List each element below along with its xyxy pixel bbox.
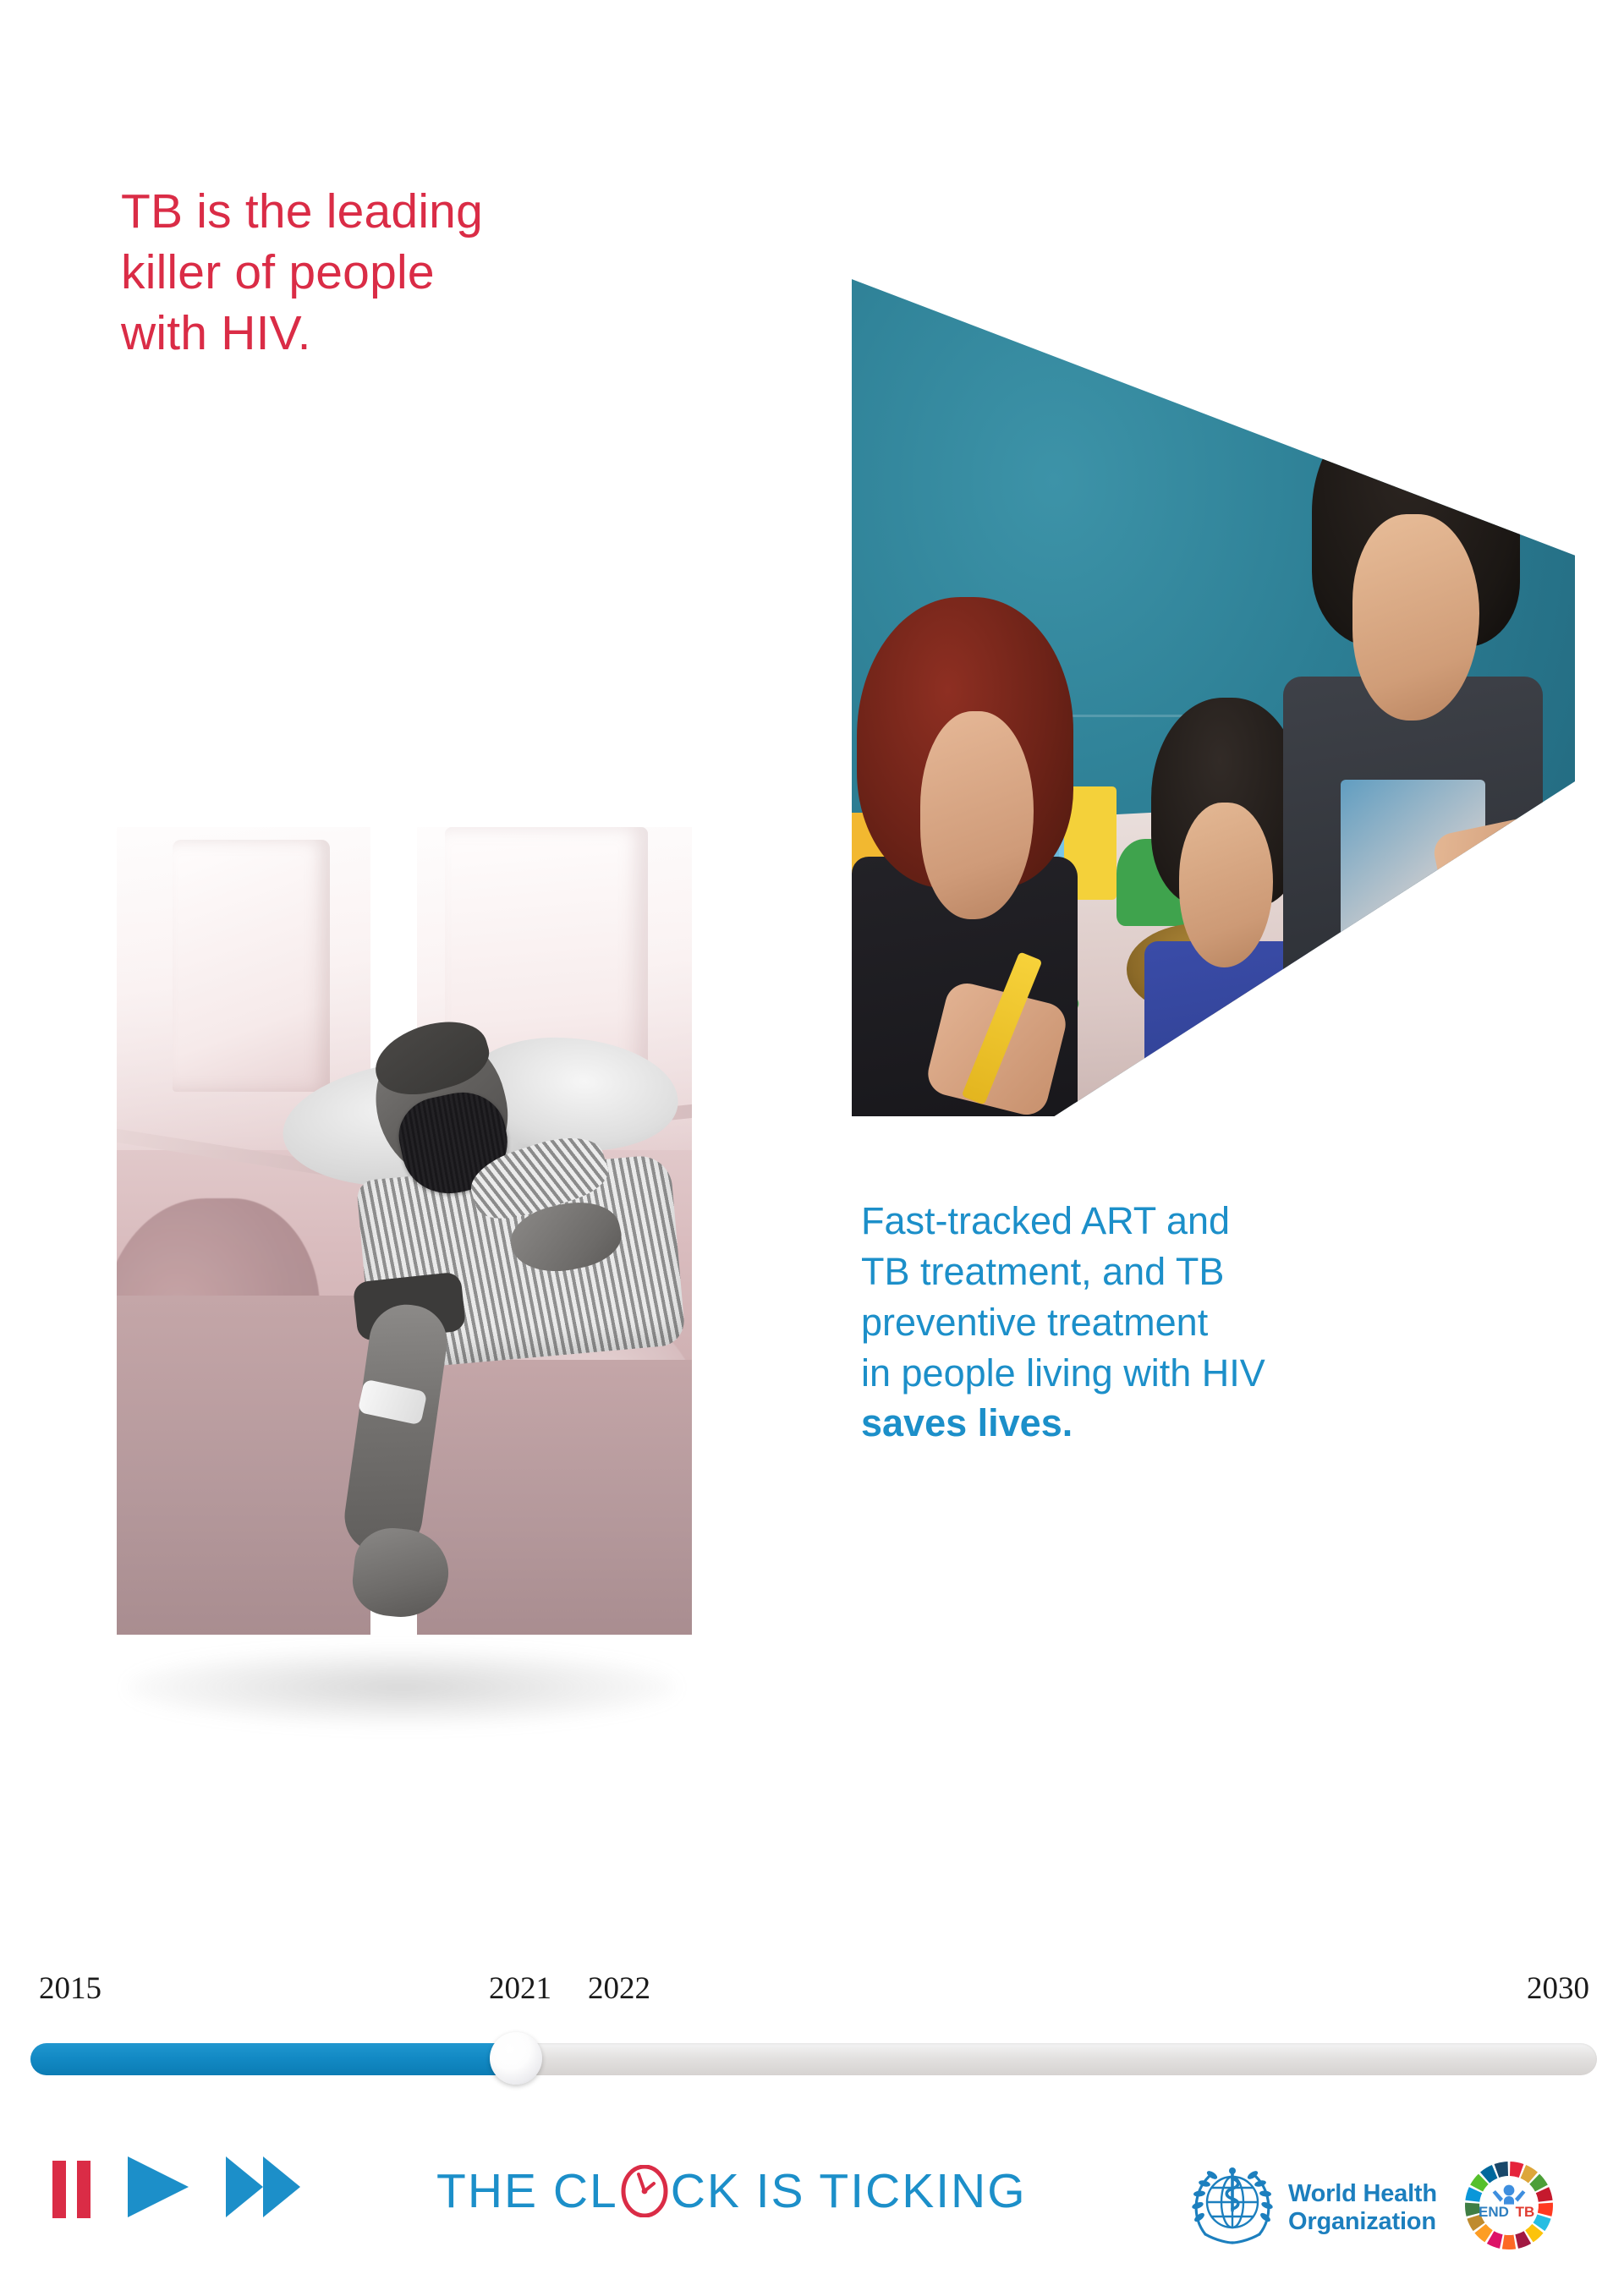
health-worker-uniform — [117, 827, 370, 1150]
timeline-year-labels: 2015 2021 2022 2030 — [0, 1970, 1624, 2014]
body-statement: Fast-tracked ART and TB treatment, and T… — [861, 1196, 1546, 1449]
sdg-wheel-segment — [1495, 2162, 1508, 2178]
left-photo-panel-left — [117, 827, 370, 1635]
older-boy-hand — [1335, 927, 1410, 1044]
who-wordmark: World Health Organization — [1288, 2180, 1437, 2235]
sdg-wheel-segment — [1510, 2162, 1523, 2178]
poster-canvas: TB is the leading killer of people with … — [0, 0, 1624, 2296]
bed-sheet — [117, 1296, 370, 1635]
tagline-part-2: CK IS TICKING — [671, 2163, 1027, 2219]
left-photo-shadow — [127, 1649, 677, 1725]
older-boy-arm — [1430, 814, 1574, 982]
timeline-label-2021: 2021 — [489, 1970, 551, 2007]
health-worker-uniform — [417, 827, 692, 1150]
who-logo: World Health Organization — [1188, 2162, 1437, 2254]
left-photo-tb-patient — [117, 827, 692, 1635]
who-line-2: Organization — [1288, 2208, 1437, 2235]
bottom-bar: THE CL CK IS TICKING — [0, 2131, 1624, 2296]
end-tb-logo: END TB — [1463, 2160, 1555, 2251]
woman-figure — [852, 597, 1098, 1116]
body-line-3: preventive treatment — [861, 1297, 1546, 1348]
body-line-1: Fast-tracked ART and — [861, 1196, 1546, 1247]
slider-progress-fill — [30, 2043, 516, 2075]
right-photo-family — [852, 279, 1575, 1116]
headline-line-1: TB is the leading — [121, 182, 645, 243]
timeline-label-2030: 2030 — [1527, 1970, 1589, 2007]
older-boy-figure — [1271, 397, 1561, 1116]
right-photo-mask — [852, 279, 1575, 1116]
who-emblem-icon — [1188, 2162, 1276, 2254]
body-line-5-emphasis: saves lives. — [861, 1398, 1546, 1449]
timeline-slider[interactable]: 2015 2021 2022 2030 — [0, 1970, 1624, 2114]
pause-icon[interactable] — [52, 2161, 91, 2218]
timeline-label-2015: 2015 — [39, 1970, 101, 2007]
headline-line-2: killer of people — [121, 243, 645, 304]
page-headline: TB is the leading killer of people with … — [121, 182, 645, 364]
tshirt-graphic-print — [1341, 780, 1485, 1030]
fast-forward-icon[interactable] — [224, 2155, 302, 2223]
body-line-4: in people living with HIV — [861, 1348, 1546, 1399]
body-line-2: TB treatment, and TB — [861, 1247, 1546, 1297]
older-boy-grey-tshirt — [1283, 677, 1544, 1116]
end-tb-word-tb: TB — [1516, 2204, 1535, 2220]
sdg-wheel-segment — [1502, 2235, 1516, 2249]
play-icon[interactable] — [124, 2155, 190, 2223]
playback-controls — [52, 2155, 302, 2223]
campaign-tagline: THE CL CK IS TICKING — [436, 2163, 1027, 2219]
slider-thumb-handle[interactable] — [490, 2032, 542, 2085]
slider-track[interactable] — [30, 2043, 1597, 2075]
end-tb-word-end: END — [1479, 2204, 1509, 2220]
clock-icon — [620, 2165, 669, 2217]
timeline-label-2022: 2022 — [588, 1970, 650, 2007]
headline-line-3: with HIV. — [121, 304, 645, 364]
who-line-1: World Health — [1288, 2180, 1437, 2207]
left-photo-panel-right — [417, 827, 692, 1635]
sdg-wheel-segment — [1538, 2203, 1553, 2217]
bed-sheet — [417, 1360, 692, 1635]
pause-bar-right — [77, 2161, 91, 2218]
pause-bar-left — [52, 2161, 66, 2218]
tagline-part-1: THE CL — [436, 2163, 618, 2219]
